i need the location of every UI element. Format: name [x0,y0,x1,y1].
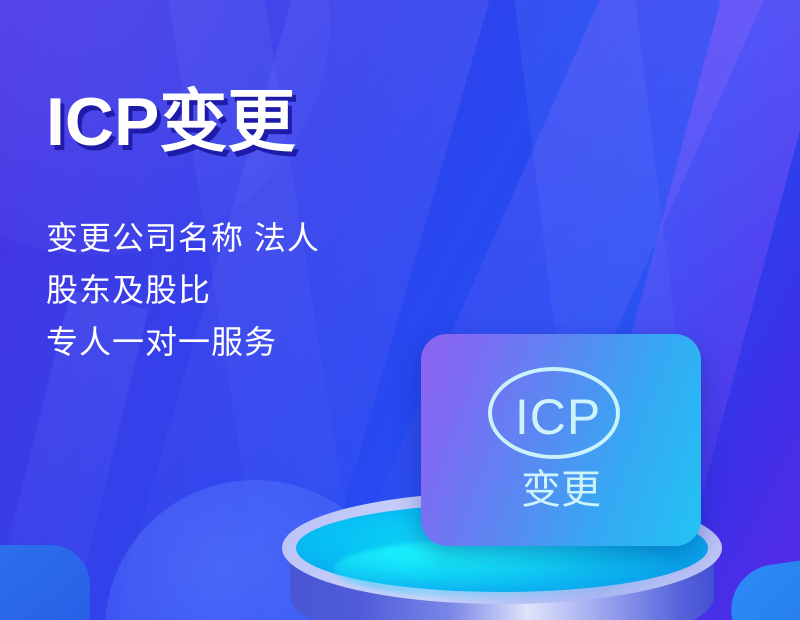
icp-card-caption: 变更 [421,470,701,510]
icp-badge-label: ICP [492,371,624,463]
promo-banner: ICP 变更 ICP变更 变更公司名称 法人 股东及股比 专人一对一服务 [0,0,800,620]
rounded-shape-left-edge [0,545,90,620]
subtitle-line-3: 专人一对一服务 [46,316,320,368]
icp-card: ICP 变更 [421,334,701,546]
page-title: ICP变更 [46,86,295,159]
subtitle-line-2: 股东及股比 [46,264,320,316]
rounded-shape-bottom-right [725,550,800,620]
ellipse-outline-icon: ICP [488,367,620,459]
pedestal-glow [334,538,674,600]
subtitle-line-1: 变更公司名称 法人 [46,212,320,264]
subtitle-block: 变更公司名称 法人 股东及股比 专人一对一服务 [46,212,320,368]
